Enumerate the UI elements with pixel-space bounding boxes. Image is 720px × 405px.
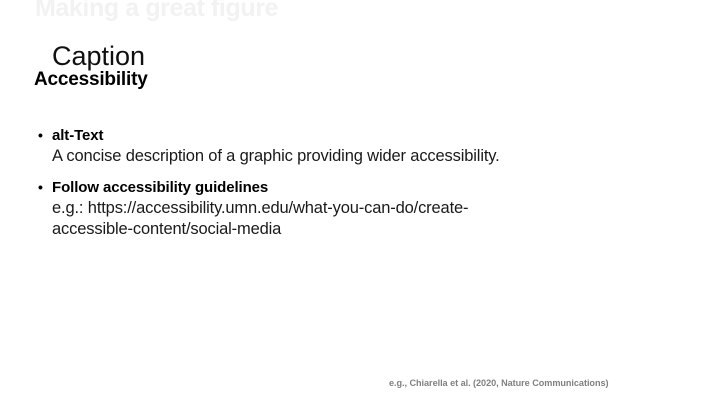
bullet-body-text: A concise description of a graphic provi… [52, 146, 688, 168]
bullet-heading-label: alt-Text [52, 126, 688, 146]
bullet-body-line-1: e.g.: https://accessibility.umn.edu/what… [52, 198, 688, 220]
bullet-body-text: e.g.: https://accessibility.umn.edu/what… [52, 198, 688, 242]
bullet-list: • alt-Text A concise description of a gr… [38, 126, 688, 251]
section-header-watermark: Making a great figure [35, 0, 278, 24]
source-citation: e.g., Chiarella et al. (2020, Nature Com… [389, 378, 608, 389]
list-item: • Follow accessibility guidelines e.g.: … [38, 178, 688, 242]
page-title: Caption [52, 42, 145, 72]
bullet-heading-label: Follow accessibility guidelines [52, 178, 688, 198]
page-subtitle: Accessibility [34, 70, 148, 91]
slide-canvas: Making a great figure Caption Accessibil… [0, 0, 720, 405]
bullet-heading-row: • Follow accessibility guidelines [38, 178, 688, 198]
bullet-body-line-1: A concise description of a graphic provi… [52, 146, 688, 168]
list-item: • alt-Text A concise description of a gr… [38, 126, 688, 168]
bullet-heading-row: • alt-Text [38, 126, 688, 146]
bullet-dot-icon: • [38, 178, 52, 196]
bullet-dot-icon: • [38, 126, 52, 144]
bullet-body-line-2: accessible-content/social-media [52, 219, 688, 241]
